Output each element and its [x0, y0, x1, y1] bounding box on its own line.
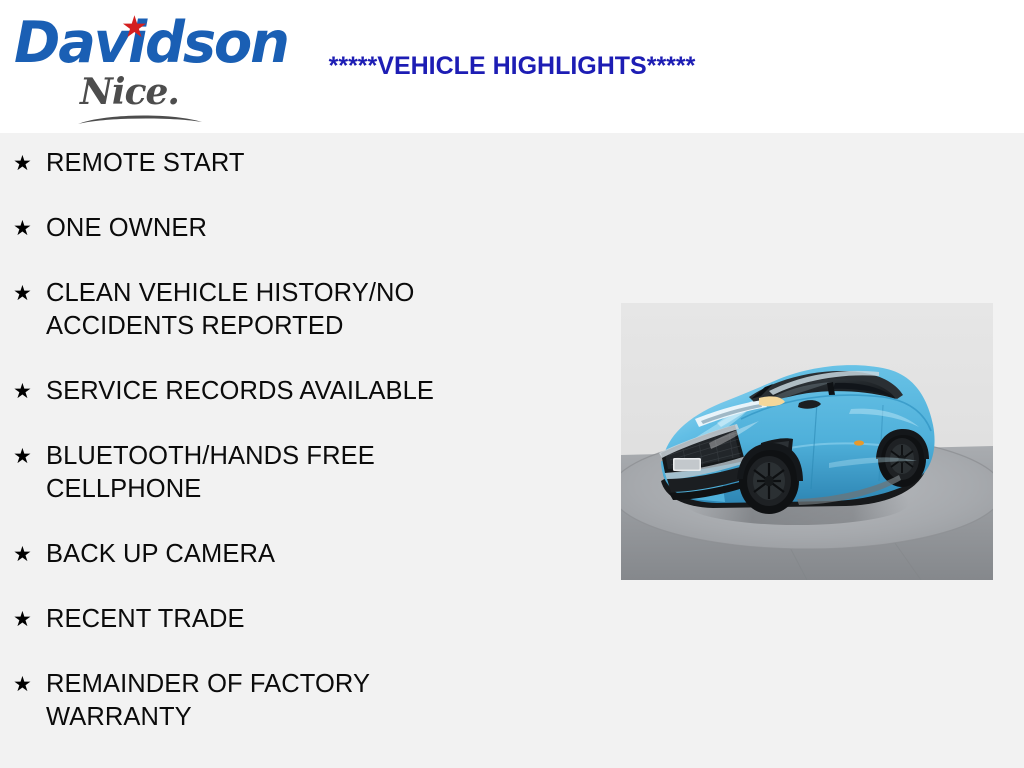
list-item-label: BLUETOOTH/HANDS FREE CELLPHONE — [46, 440, 516, 506]
list-item: ★ CLEAN VEHICLE HISTORY/NO ACCIDENTS REP… — [0, 277, 600, 343]
list-item: ★ BLUETOOTH/HANDS FREE CELLPHONE — [0, 440, 600, 506]
star-bullet-icon: ★ — [13, 213, 32, 243]
list-item-label: REMAINDER OF FACTORY WARRANTY — [46, 668, 516, 734]
star-bullet-icon: ★ — [13, 376, 32, 406]
list-item-label: RECENT TRADE — [46, 603, 516, 636]
list-item-label: CLEAN VEHICLE HISTORY/NO ACCIDENTS REPOR… — [46, 277, 516, 343]
star-bullet-icon: ★ — [13, 604, 32, 634]
vehicle-photo-image — [621, 303, 993, 580]
list-item: ★ BACK UP CAMERA — [0, 538, 600, 571]
star-bullet-icon: ★ — [13, 148, 32, 178]
logo-swoosh-underline — [76, 111, 204, 127]
star-bullet-icon: ★ — [13, 441, 32, 471]
vehicle-photo[interactable] — [621, 303, 993, 580]
list-item: ★ RECENT TRADE — [0, 603, 600, 636]
vehicle-highlights-page: Davidson ★ Nice. *****VEHICLE HIGHLIGHTS… — [0, 0, 1024, 768]
star-bullet-icon: ★ — [13, 539, 32, 569]
list-item: ★ ONE OWNER — [0, 212, 600, 245]
list-item: ★ REMAINDER OF FACTORY WARRANTY — [0, 668, 600, 734]
list-item-label: BACK UP CAMERA — [46, 538, 516, 571]
list-item-label: REMOTE START — [46, 147, 516, 180]
list-item: ★ REMOTE START — [0, 147, 600, 180]
list-item: ★ SERVICE RECORDS AVAILABLE — [0, 375, 600, 408]
star-bullet-icon: ★ — [13, 669, 32, 699]
list-item-label: SERVICE RECORDS AVAILABLE — [46, 375, 516, 408]
star-icon: ★ — [121, 15, 147, 41]
star-bullet-icon: ★ — [13, 278, 32, 308]
page-header: Davidson ★ Nice. *****VEHICLE HIGHLIGHTS… — [0, 0, 1024, 133]
page-body: ★ REMOTE START ★ ONE OWNER ★ CLEAN VEHIC… — [0, 133, 1024, 768]
page-title: *****VEHICLE HIGHLIGHTS***** — [0, 52, 1024, 81]
list-item-label: ONE OWNER — [46, 212, 516, 245]
vehicle-highlights-list: ★ REMOTE START ★ ONE OWNER ★ CLEAN VEHIC… — [0, 133, 600, 766]
